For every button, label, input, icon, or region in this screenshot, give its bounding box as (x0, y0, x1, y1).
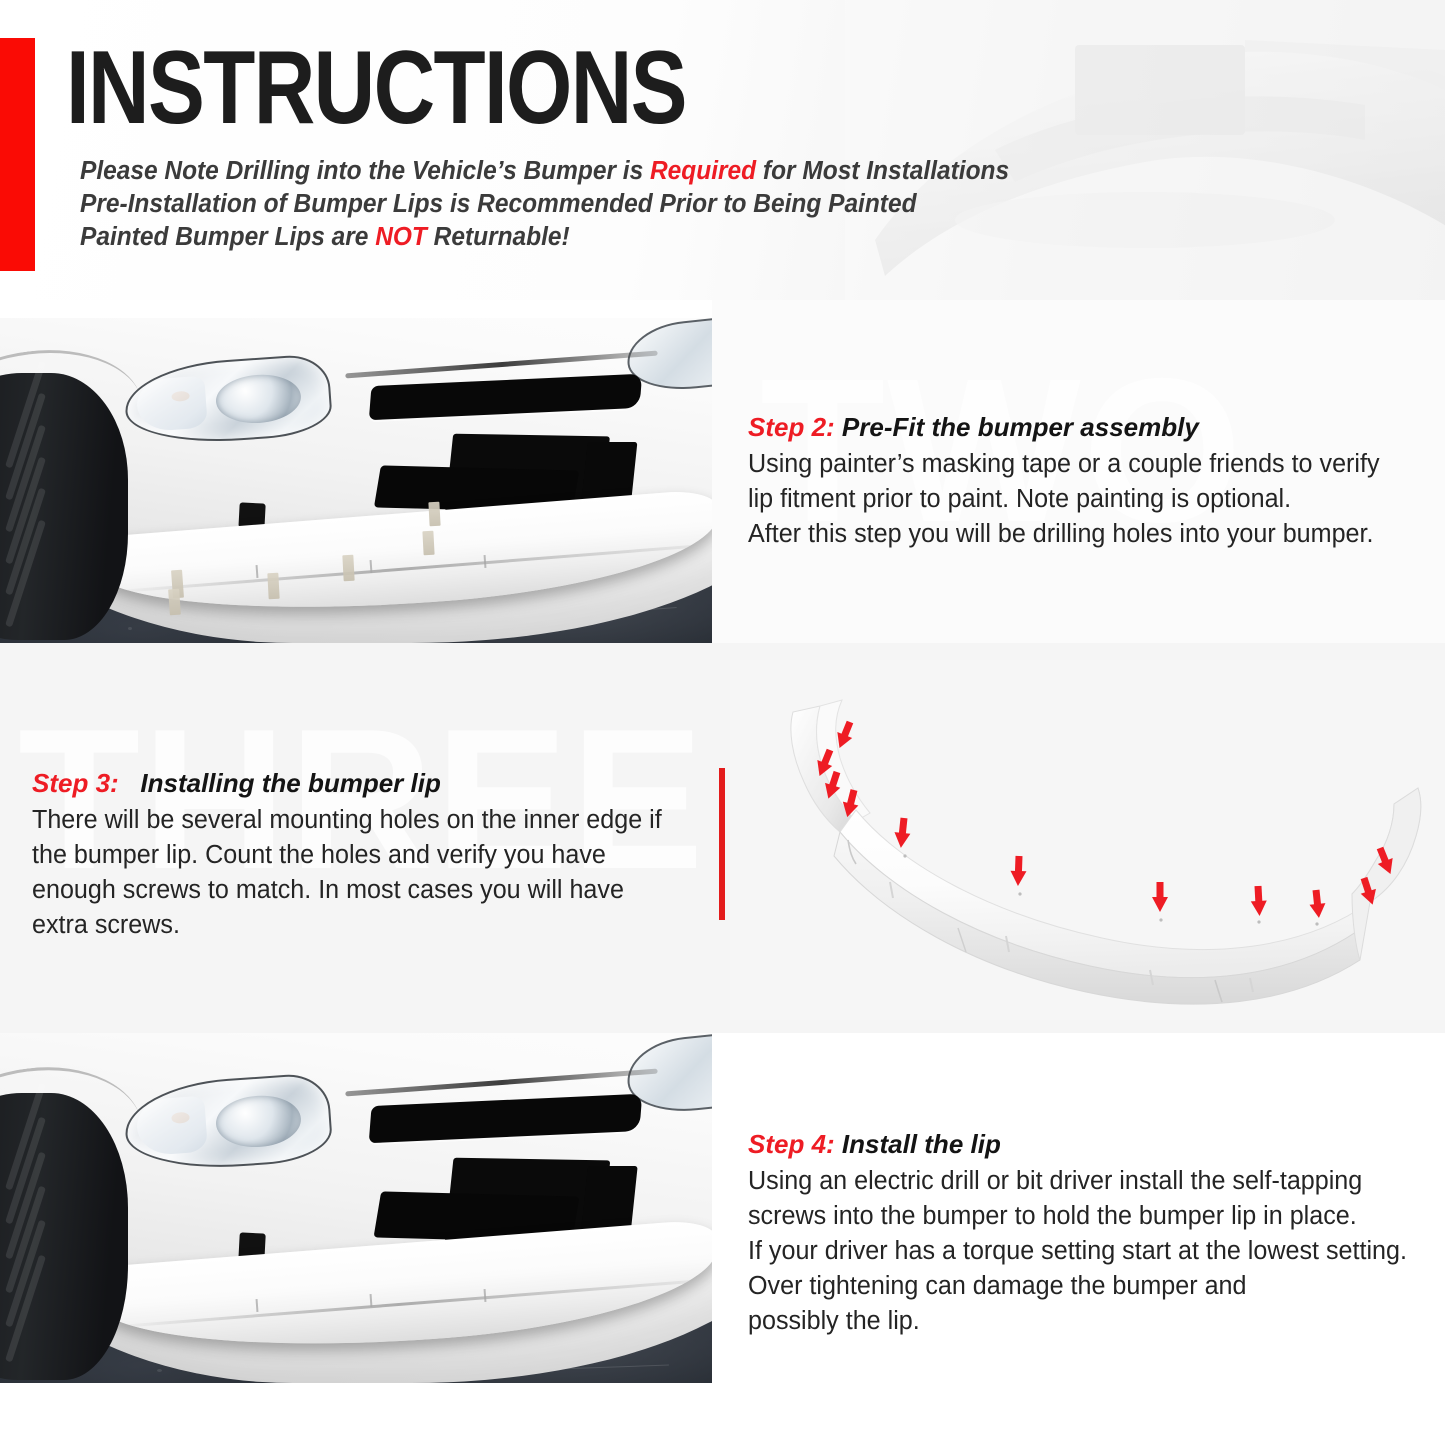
step-4-line-4: Over tightening can damage the bumper an… (748, 1269, 1407, 1304)
header-banner: INSTRUCTIONS Please Note Drilling into t… (0, 0, 1445, 300)
masking-tape-strip (422, 531, 434, 556)
page-title: INSTRUCTIONS (66, 36, 686, 140)
header-note-3-highlight: NOT (375, 223, 427, 251)
floor-speck (157, 1369, 162, 1372)
front-tire (0, 373, 128, 640)
step-4-number: Step 4: (748, 1129, 835, 1159)
header-note-1-post: for Most Installations (756, 157, 1009, 185)
step-3-title: Step 3: Installing the bumper lip (32, 766, 671, 800)
header-note-3-pre: Painted Bumper Lips are (80, 223, 375, 251)
header-note-2: Pre-Installation of Bumper Lips is Recom… (80, 188, 1261, 221)
instructions-page: INSTRUCTIONS Please Note Drilling into t… (0, 0, 1445, 1445)
step-4-line-1: Using an electric drill or bit driver in… (748, 1164, 1407, 1199)
step-4-line-3: If your driver has a torque setting star… (748, 1234, 1407, 1269)
step-2-heading: Pre-Fit the bumper assembly (842, 412, 1199, 442)
header-note-1: Please Note Drilling into the Vehicle’s … (80, 155, 1261, 188)
step-2-line-1: Using painter’s masking tape or a couple… (748, 447, 1380, 482)
step3-red-divider (719, 768, 725, 920)
header-note-1-highlight: Required (650, 157, 756, 185)
floor-speck (128, 627, 132, 630)
step-4-line-5: possibly the lip. (748, 1304, 1407, 1339)
masking-tape-strip (342, 555, 354, 582)
header-background-product-ghost (845, 0, 1445, 300)
header-note-1-pre: Please Note Drilling into the Vehicle’s … (80, 157, 650, 185)
step-3-line-1: There will be several mounting holes on … (32, 803, 662, 838)
step-4-text-block: Step 4: Install the lip Using an electri… (748, 1127, 1417, 1339)
header-note-3: Painted Bumper Lips are NOT Returnable! (80, 221, 1261, 254)
step-3-line-3: enough screws to match. In most cases yo… (32, 873, 662, 908)
front-tire (0, 1093, 128, 1380)
step-2-number: Step 2: (748, 412, 835, 442)
turn-signal-amber (170, 1112, 189, 1124)
turn-signal-amber (170, 391, 189, 402)
step-2-line-3: After this step you will be drilling hol… (748, 517, 1380, 552)
step2-vehicle-photo (0, 318, 712, 643)
step-2-text-block: Step 2: Pre-Fit the bumper assembly Usin… (748, 410, 1389, 552)
header-notes: Please Note Drilling into the Vehicle’s … (80, 155, 1310, 254)
step3-product-illustration (730, 660, 1445, 1020)
header-note-2-pre: Pre-Installation of Bumper Lips is Recom… (80, 190, 917, 218)
step-2-line-2: lip fitment prior to paint. Note paintin… (748, 482, 1380, 517)
step4-vehicle-photo (0, 1033, 712, 1383)
step-4-line-2: screws into the bumper to hold the bumpe… (748, 1199, 1407, 1234)
header-note-3-post: Returnable! (427, 223, 570, 251)
header-red-accent-bar (0, 38, 35, 271)
masking-tape-strip (169, 589, 182, 616)
step-3-number: Step 3: (32, 768, 119, 798)
masking-tape-strip (428, 501, 440, 526)
step-4-title: Step 4: Install the lip (748, 1127, 1417, 1161)
step-3-line-4: extra screws. (32, 908, 662, 943)
step-2-title: Step 2: Pre-Fit the bumper assembly (748, 410, 1389, 444)
bumper-lip-diagram (730, 660, 1445, 1020)
masking-tape-strip (267, 573, 279, 600)
step-4-heading: Install the lip (842, 1129, 1001, 1159)
step-3-line-2: the bumper lip. Count the holes and veri… (32, 838, 662, 873)
step-3-heading: Installing the bumper lip (140, 768, 440, 798)
step-3-text-block: Step 3: Installing the bumper lip There … (32, 766, 671, 943)
